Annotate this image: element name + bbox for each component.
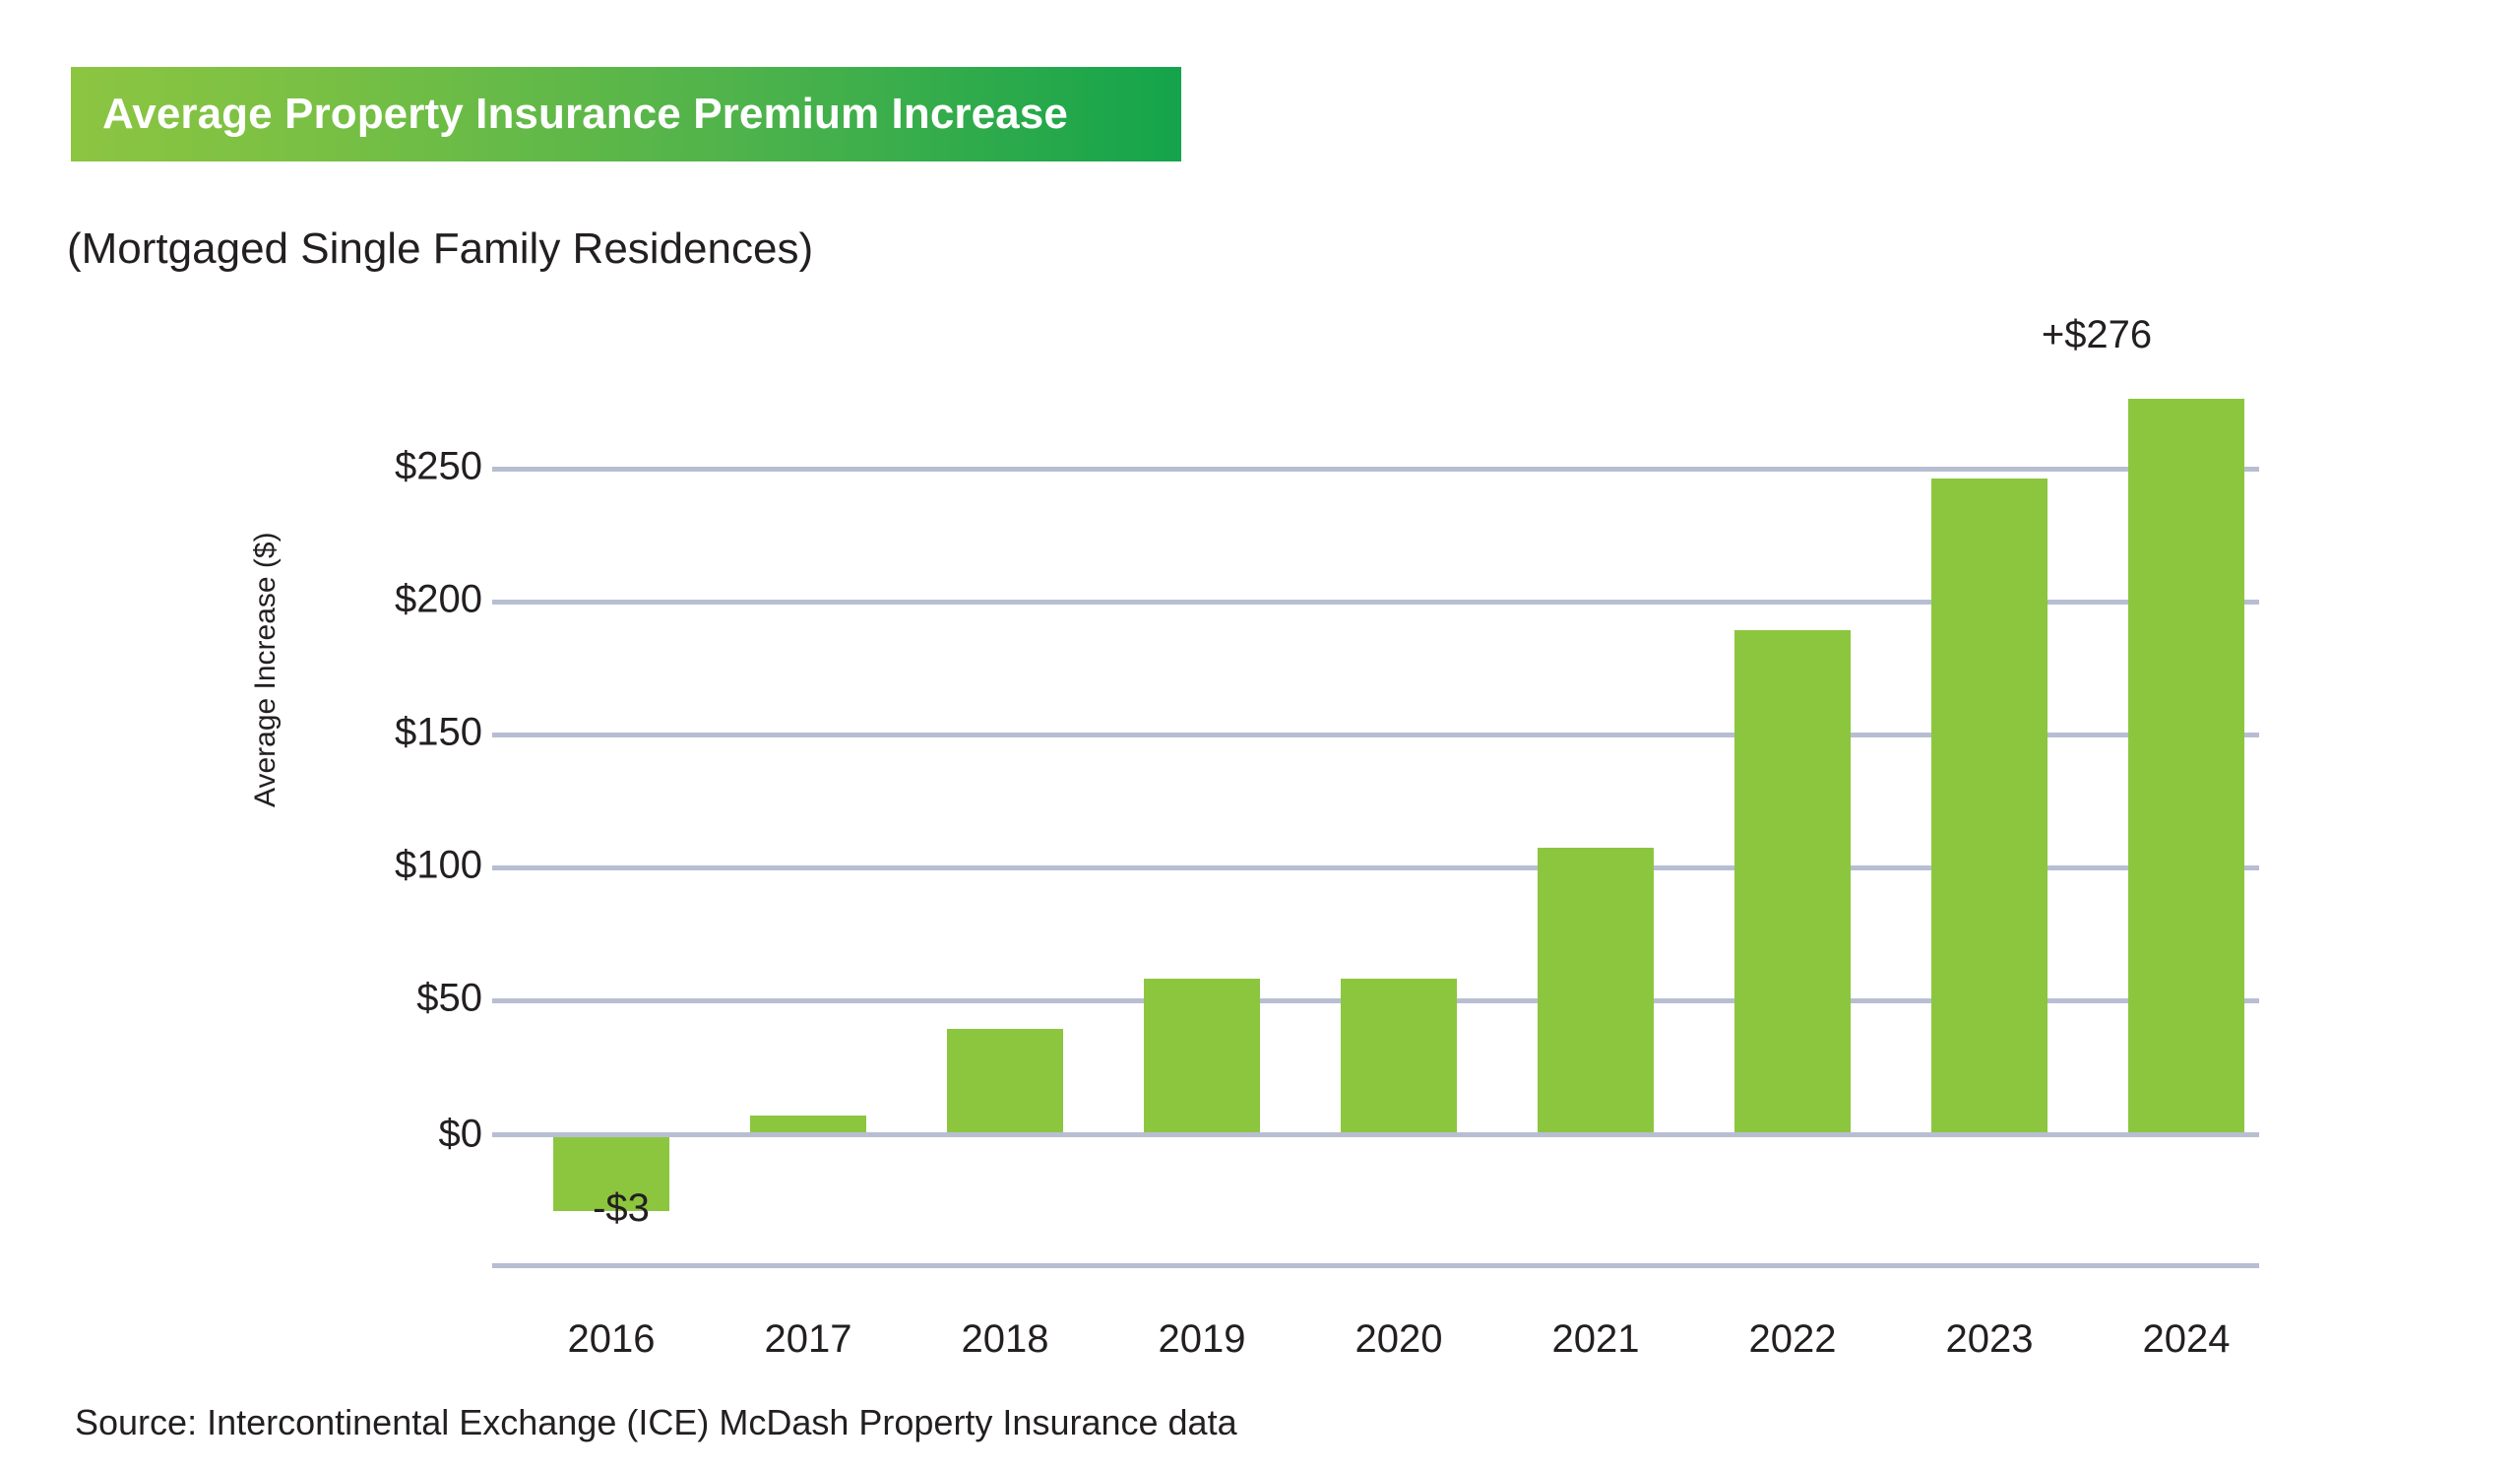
y-tick-label-0: $0 xyxy=(285,1113,482,1157)
bar-2019 xyxy=(1144,979,1260,1132)
x-tick-label-2017: 2017 xyxy=(700,1317,916,1362)
bar-2021 xyxy=(1538,848,1654,1132)
x-tick-label-2016: 2016 xyxy=(503,1317,720,1362)
bar-2024 xyxy=(2128,399,2244,1132)
x-tick-label-2023: 2023 xyxy=(1881,1317,2098,1362)
gridline-250 xyxy=(492,467,2259,472)
x-tick-label-2022: 2022 xyxy=(1684,1317,1901,1362)
bar-2018 xyxy=(947,1029,1063,1132)
y-tick-label-150: $150 xyxy=(285,711,482,755)
data-label-2016: -$3 xyxy=(493,1186,749,1231)
x-tick-label-2020: 2020 xyxy=(1291,1317,1507,1362)
plot-area xyxy=(492,305,2259,1137)
data-label-2024: +$276 xyxy=(1969,313,2225,357)
gridline-zero xyxy=(492,1132,2259,1137)
x-tick-label-2024: 2024 xyxy=(2078,1317,2295,1362)
y-tick-label-100: $100 xyxy=(285,844,482,888)
bar-2023 xyxy=(1931,479,2047,1132)
y-tick-label-250: $250 xyxy=(285,445,482,489)
x-axis-line xyxy=(492,1263,2259,1268)
y-tick-label-50: $50 xyxy=(285,977,482,1021)
bar-chart: Average Increase ($) $250 $200 $150 $100… xyxy=(0,0,2520,1470)
x-tick-label-2019: 2019 xyxy=(1094,1317,1310,1362)
bar-2020 xyxy=(1341,979,1457,1132)
bar-2022 xyxy=(1734,630,1851,1132)
y-tick-label-200: $200 xyxy=(285,578,482,622)
y-axis-title: Average Increase ($) xyxy=(249,532,283,807)
bar-2017 xyxy=(750,1116,866,1132)
x-tick-label-2018: 2018 xyxy=(897,1317,1113,1362)
x-tick-label-2021: 2021 xyxy=(1487,1317,1704,1362)
source-note: Source: Intercontinental Exchange (ICE) … xyxy=(75,1402,1237,1443)
